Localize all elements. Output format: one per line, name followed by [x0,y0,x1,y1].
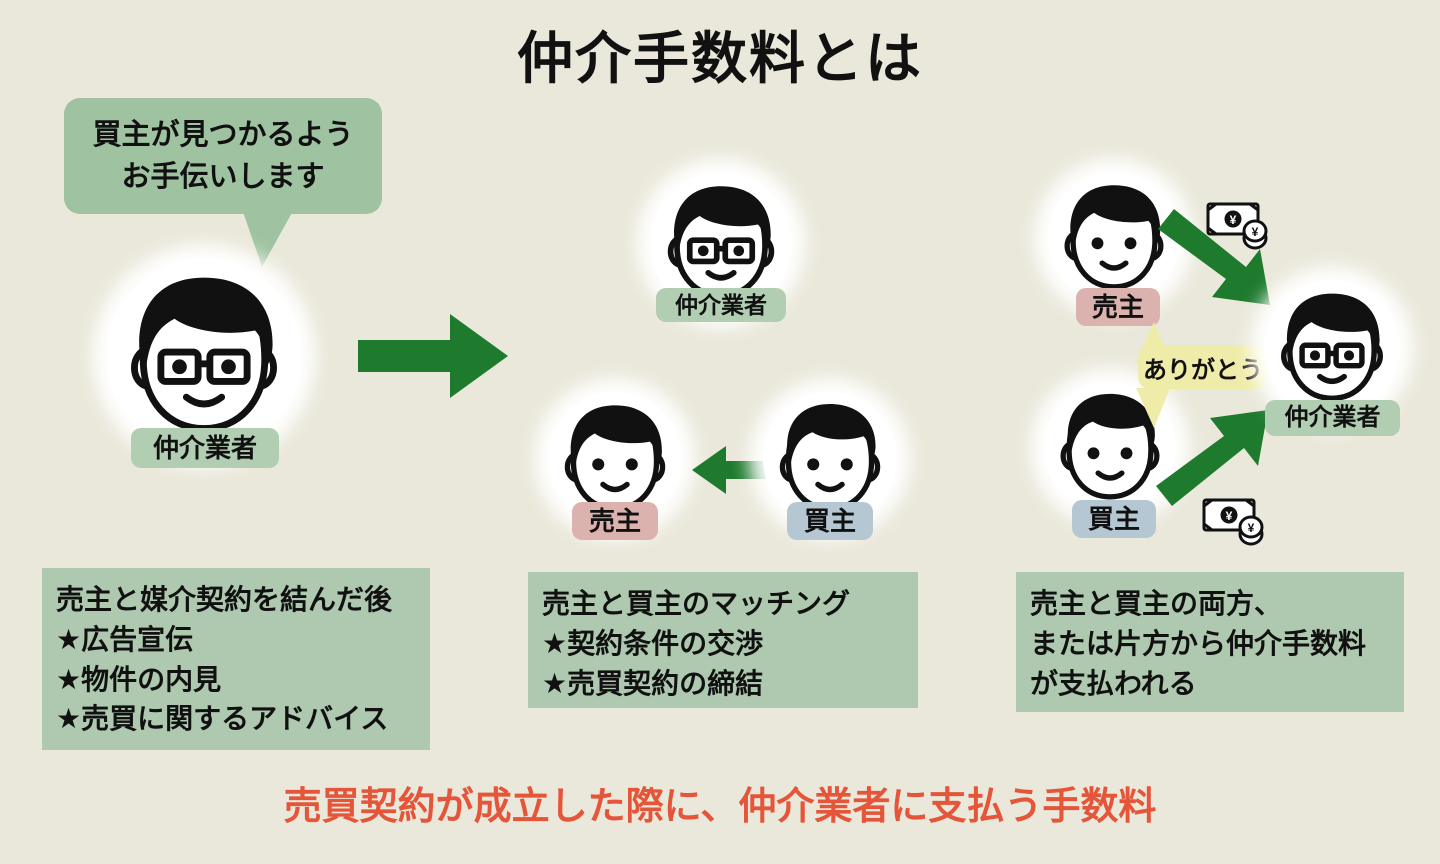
info-panel-2: 売主と買主のマッチング ★契約条件の交渉 ★売買契約の締結 [528,572,918,708]
person-broker-panel3 [1264,280,1400,416]
panel-3: 売主 買主 [1000,0,1440,864]
info-line: ★契約条件の交渉 [542,624,904,664]
badge-label: 仲介業者 [153,435,257,461]
badge-label: 売主 [589,508,641,534]
panel-1: 買主が見つかるよう お手伝いします [0,0,470,864]
badge-label: 買主 [804,508,856,534]
badge-label: 売主 [1092,294,1144,320]
badge-seller-panel3: 売主 [1076,288,1160,326]
thanks-bubble-label: ありがとう [1143,350,1263,385]
badge-broker-panel2: 仲介業者 [656,288,786,322]
info-line: ★広告宣伝 [56,620,416,660]
infographic-canvas: 仲介手数料とは 買主が見つかるよう お手伝いします [0,0,1440,864]
info-panel-1: 売主と媒介契約を結んだ後 ★広告宣伝 ★物件の内見 ★売買に関するアドバイス [42,568,430,750]
money-icon: ¥ ¥ [1206,198,1274,250]
svg-text:¥: ¥ [1252,225,1259,239]
badge-seller-panel2: 売主 [572,502,658,540]
bottom-caption: 売買契約が成立した際に、仲介業者に支払う手数料 [0,775,1440,830]
person-broker-panel1 [106,258,302,454]
arrow-right-icon [358,312,508,400]
money-icon: ¥ ¥ [1202,494,1270,546]
bubble-line-2: お手伝いします [121,156,324,198]
info-line: 売主と買主のマッチング [542,584,904,624]
badge-label: 仲介業者 [1285,406,1381,430]
panel-2: 仲介業者 売主 [500,0,950,864]
svg-text:¥: ¥ [1230,213,1237,227]
info-line: 売主と買主の両方、 [1030,584,1390,624]
face-with-glasses-icon [1264,280,1400,416]
info-line: または片方から仲介手数料 [1030,624,1390,664]
badge-buyer-panel2: 買主 [787,502,873,540]
info-line: ★売買に関するアドバイス [56,699,416,739]
broker-speech-bubble: 買主が見つかるよう お手伝いします [64,98,382,214]
info-line: ★売買契約の締結 [542,664,904,704]
badge-label: 買主 [1088,506,1140,532]
thanks-speech-bubble: ありがとう [1138,345,1268,389]
face-with-glasses-icon [106,258,302,454]
info-panel-3: 売主と買主の両方、 または片方から仲介手数料 が支払われる [1016,572,1404,712]
badge-label: 仲介業者 [675,294,767,317]
info-line: 売主と媒介契約を結んだ後 [56,580,416,620]
info-line: が支払われる [1030,664,1390,704]
badge-broker-panel3: 仲介業者 [1265,400,1400,436]
svg-text:¥: ¥ [1248,521,1255,535]
bubble-line-1: 買主が見つかるよう [92,114,353,156]
info-line: ★物件の内見 [56,660,416,700]
badge-buyer-panel3: 買主 [1072,500,1156,538]
svg-text:¥: ¥ [1226,509,1233,523]
badge-broker-panel1: 仲介業者 [131,428,279,468]
